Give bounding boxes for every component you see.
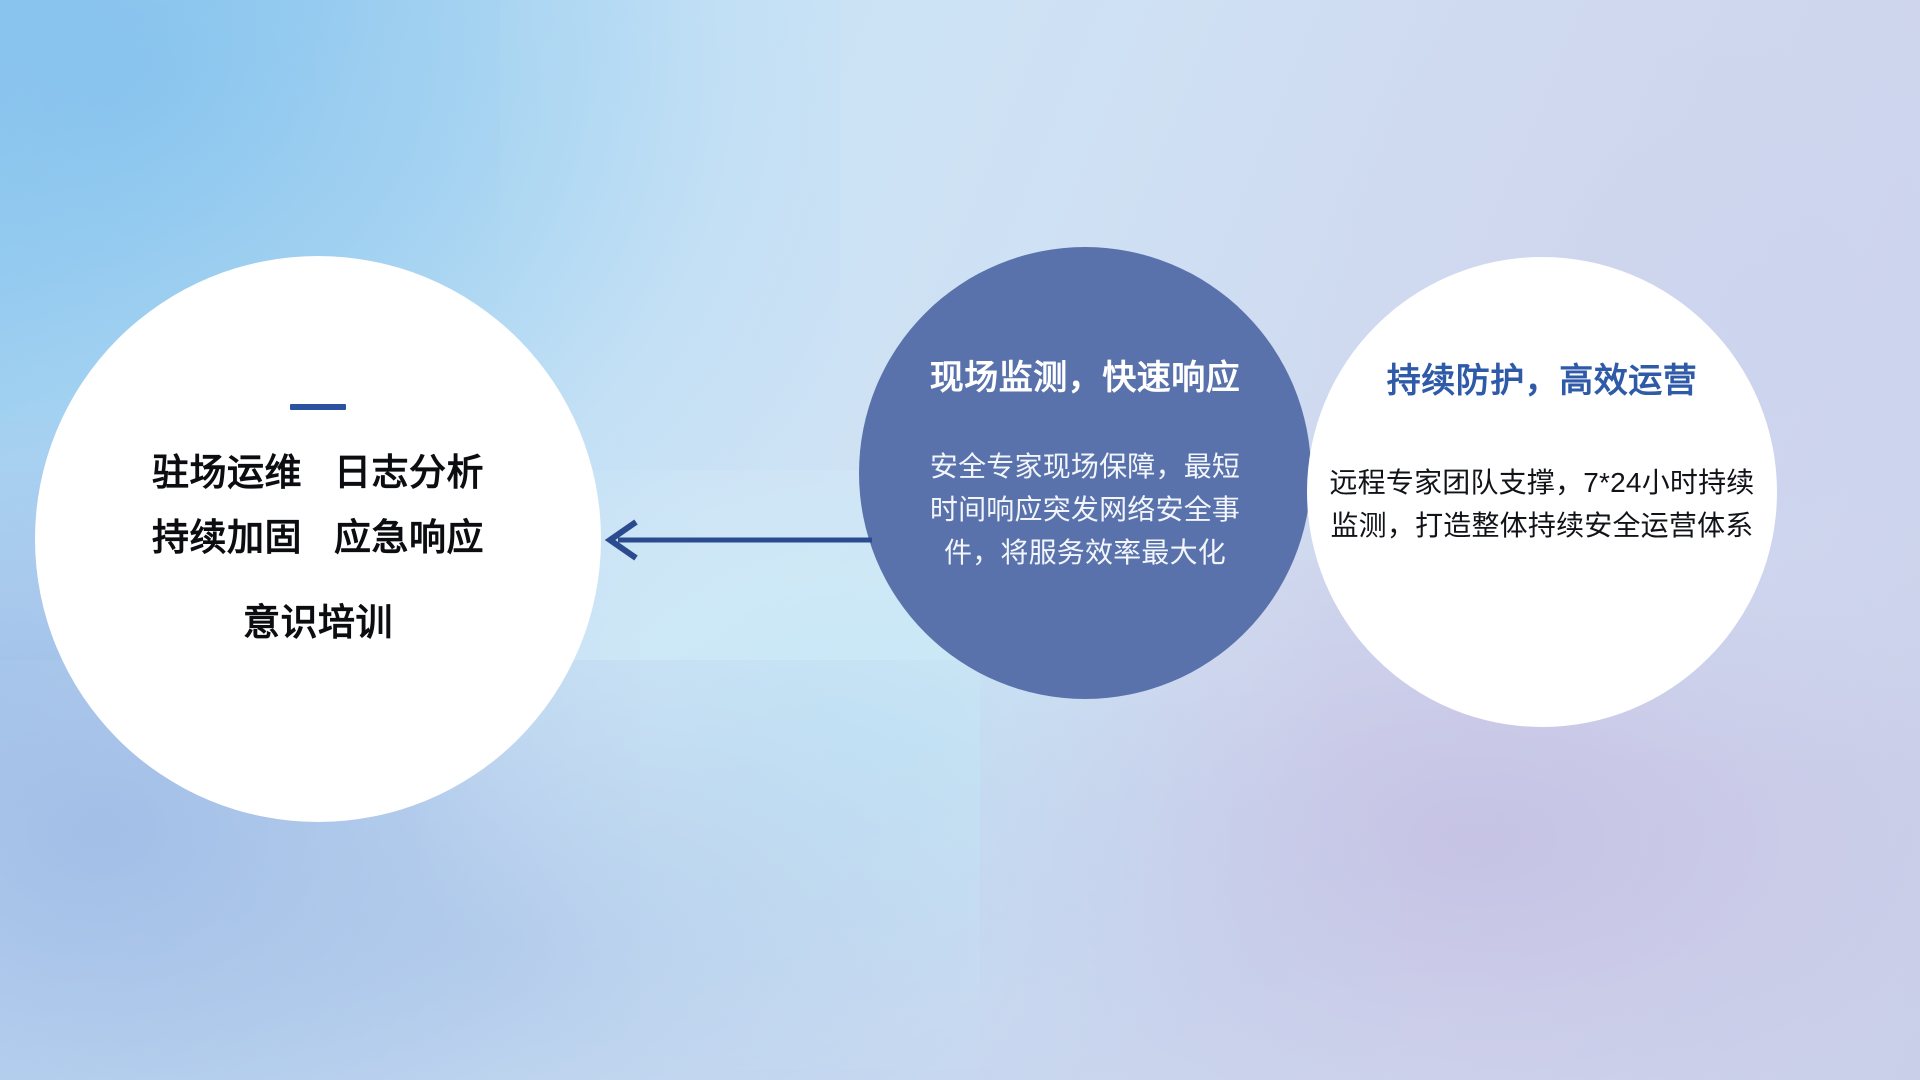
list-item: 驻场运维日志分析 <box>35 454 601 491</box>
flow-arrow-left <box>596 512 876 568</box>
list-item: 持续加固应急响应 <box>35 519 601 556</box>
card-body-text: 安全专家现场保障，最短时间响应突发网络安全事件，将服务效率最大化 <box>920 446 1250 574</box>
card-title: 现场监测，快速响应 <box>930 350 1241 399</box>
list-item: 意识培训 <box>35 604 601 641</box>
circle-card-onsite-monitoring[interactable]: 现场监测，快速响应 安全专家现场保障，最短时间响应突发网络安全事件，将服务效率最… <box>859 247 1311 699</box>
arrow-left-icon <box>596 512 876 568</box>
infographic-canvas: 驻场运维日志分析 持续加固应急响应 意识培训 现场监测，快速响应 安全专家现场保… <box>0 0 1920 1080</box>
card-body-text: 远程专家团队支撑，7*24小时持续监测，打造整体持续安全运营体系 <box>1327 462 1757 548</box>
card-title: 持续防护，高效运营 <box>1387 353 1698 402</box>
service-tag-list: 驻场运维日志分析 持续加固应急响应 意识培训 <box>35 454 601 641</box>
circle-card-continuous-protection[interactable]: 持续防护，高效运营 远程专家团队支撑，7*24小时持续监测，打造整体持续安全运营… <box>1307 257 1777 727</box>
circle-card-services[interactable]: 驻场运维日志分析 持续加固应急响应 意识培训 <box>35 256 601 822</box>
dash-divider-icon <box>290 404 346 410</box>
